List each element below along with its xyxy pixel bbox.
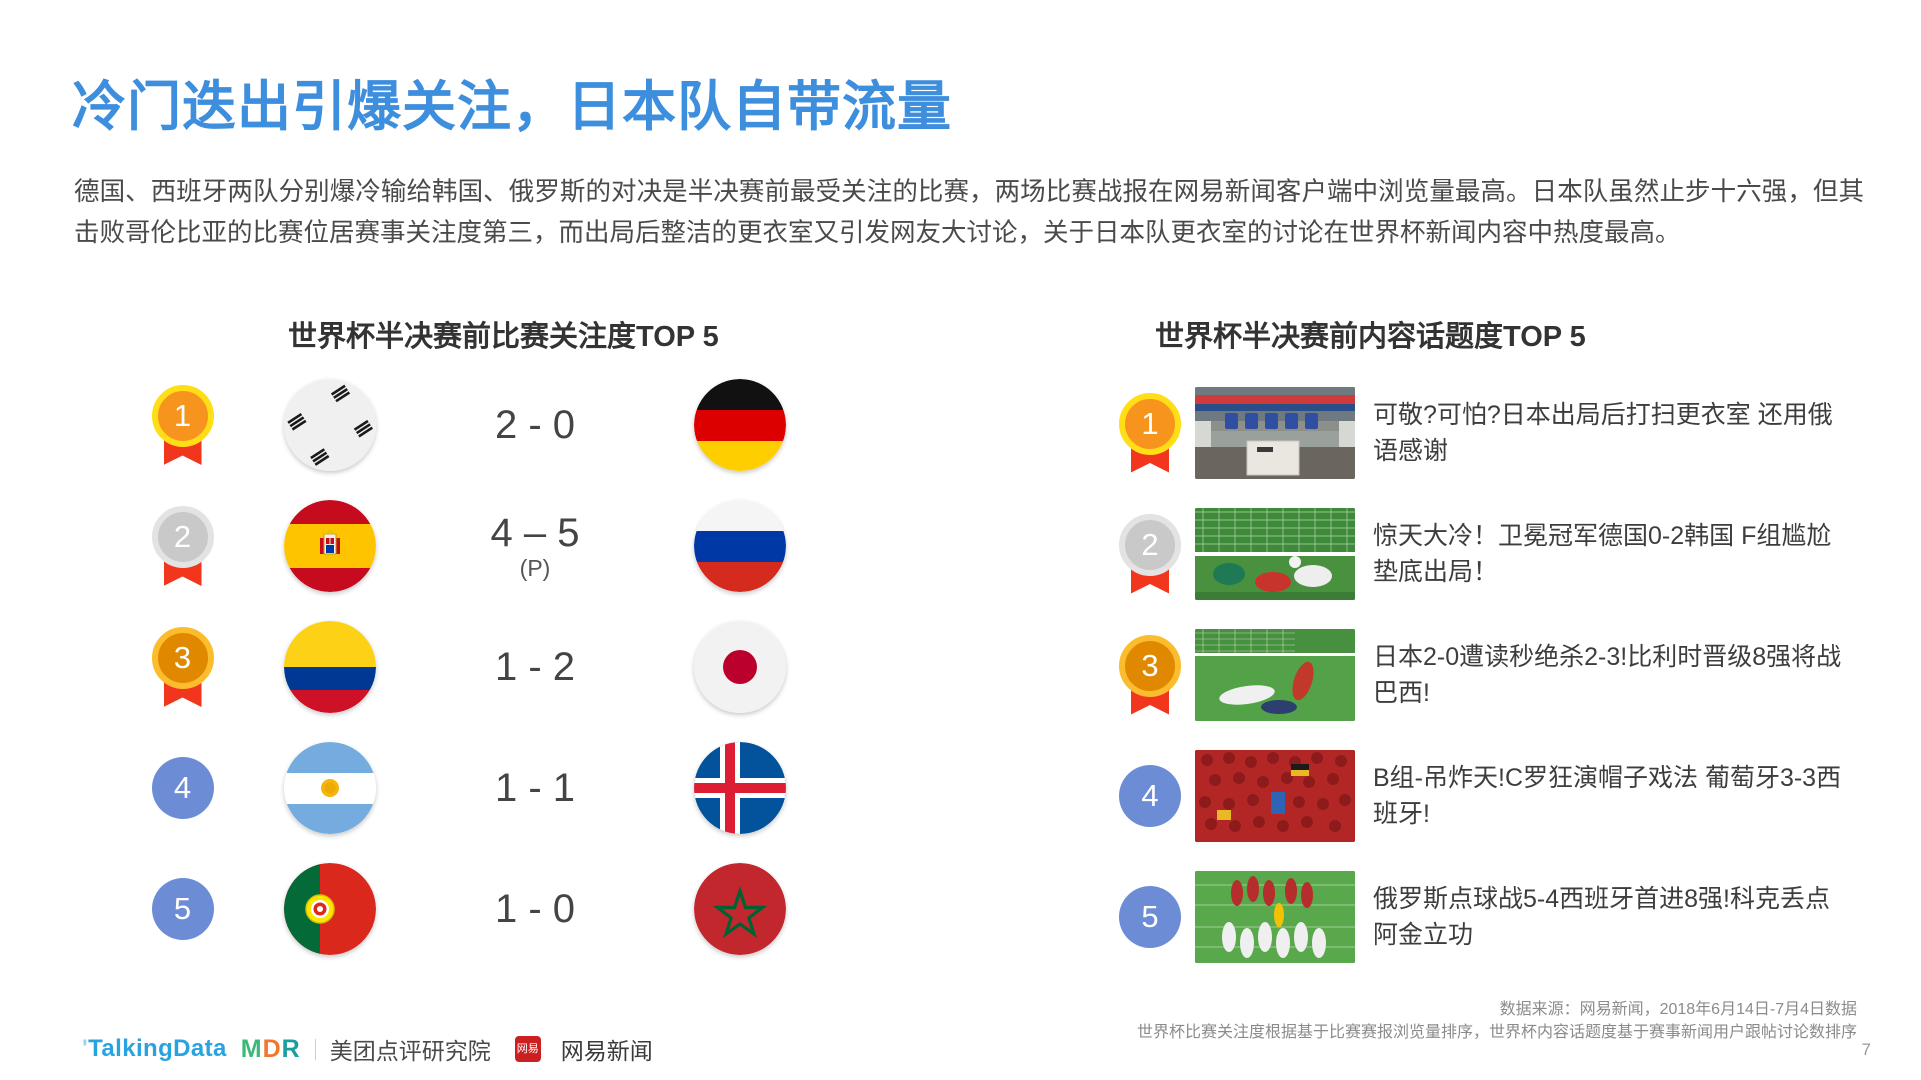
medal-bronze-icon: 3	[1119, 635, 1181, 715]
score-value: 1 - 1	[495, 766, 575, 810]
flag-portugal-icon	[284, 863, 376, 955]
away-flag-cell	[655, 742, 825, 834]
flag-spain-icon	[284, 500, 376, 592]
logo-divider	[315, 1039, 316, 1060]
article-title[interactable]: 俄罗斯点球战5-4西班牙首进8强!科克丢点阿金立功	[1373, 881, 1843, 953]
right-section-heading: 世界杯半决赛前内容话题度TOP 5	[1155, 313, 1586, 355]
intro-paragraph: 德国、西班牙两队分别爆冷输给韩国、俄罗斯的对决是半决赛前最受关注的比赛，两场比赛…	[74, 172, 1864, 254]
away-flag-cell	[655, 379, 825, 471]
mdr-logo: MDR	[241, 1035, 301, 1064]
score-value: 1 - 0	[495, 887, 575, 931]
method-note: 世界杯比赛关注度根据基于比赛赛报浏览量排序，世界杯内容话题度基于赛事新闻用户跟帖…	[1137, 1018, 1857, 1042]
rank-badge: 4	[152, 757, 214, 819]
rank-cell: 2	[120, 506, 245, 586]
rank-cell: 2	[1105, 514, 1195, 594]
table-row[interactable]: 5	[120, 859, 920, 959]
score-cell: 1 - 0	[415, 889, 655, 929]
list-item[interactable]: 3	[1105, 622, 1905, 727]
table-row[interactable]: 1	[120, 375, 920, 475]
flag-argentina-icon	[284, 742, 376, 834]
footer-logos: 'TalkingData MDR 美团点评研究院 网易 网易新闻	[82, 1032, 653, 1066]
medal-silver-icon: 2	[152, 506, 214, 586]
rank-cell: 3	[120, 627, 245, 707]
list-item[interactable]: 2	[1105, 501, 1905, 606]
score-cell: 1 - 2	[415, 647, 655, 687]
flag-iceland-icon	[694, 742, 786, 834]
rank-number: 3	[1119, 635, 1181, 697]
away-flag-cell	[655, 500, 825, 592]
rank-badge: 5	[1119, 886, 1181, 948]
match-ranking-list: 1	[120, 375, 920, 980]
list-item[interactable]: 4	[1105, 743, 1905, 848]
score-value: 4 – 5	[491, 511, 580, 555]
flag-south-korea-icon	[284, 379, 376, 471]
table-row[interactable]: 3 1 - 2	[120, 617, 920, 717]
rank-number: 2	[152, 506, 214, 568]
list-item[interactable]: 1	[1105, 380, 1905, 485]
thumbnail-team-huddle[interactable]	[1195, 871, 1355, 963]
score-value: 2 - 0	[495, 403, 575, 447]
score-cell: 4 – 5 (P)	[415, 513, 655, 580]
article-title[interactable]: B组-吊炸天!C罗狂演帽子戏法 葡萄牙3-3西班牙!	[1373, 760, 1843, 832]
away-flag-cell	[655, 863, 825, 955]
home-flag-cell	[245, 621, 415, 713]
thumbnail-locker-room[interactable]	[1195, 387, 1355, 479]
home-flag-cell	[245, 500, 415, 592]
home-flag-cell	[245, 863, 415, 955]
table-row[interactable]: 4 1 - 1	[120, 738, 920, 838]
score-cell: 1 - 1	[415, 768, 655, 808]
rank-cell: 1	[120, 385, 245, 465]
rank-cell: 3	[1105, 635, 1195, 715]
score-cell: 2 - 0	[415, 405, 655, 445]
thumbnail-crowd-fans[interactable]	[1195, 750, 1355, 842]
rank-number: 1	[152, 385, 214, 447]
rank-number: 2	[1119, 514, 1181, 576]
rank-cell: 4	[120, 757, 245, 819]
article-title[interactable]: 日本2-0遭读秒绝杀2-3!比利时晋级8强将战巴西!	[1373, 639, 1843, 711]
netease-badge-icon: 网易	[515, 1036, 541, 1062]
thumbnail-goal-celebration[interactable]	[1195, 508, 1355, 600]
score-note: (P)	[415, 557, 655, 580]
flag-germany-icon	[694, 379, 786, 471]
flag-japan-icon	[694, 621, 786, 713]
meituan-research-logo: 美团点评研究院	[330, 1032, 491, 1066]
page-title: 冷门迭出引爆关注，日本队自带流量	[72, 62, 952, 141]
page-number: 7	[1862, 1040, 1871, 1060]
flag-russia-icon	[694, 500, 786, 592]
rank-cell: 5	[120, 878, 245, 940]
medal-gold-icon: 1	[1119, 393, 1181, 473]
home-flag-cell	[245, 742, 415, 834]
rank-cell: 4	[1105, 765, 1195, 827]
rank-number: 3	[152, 627, 214, 689]
rank-badge: 5	[152, 878, 214, 940]
talkingdata-logo: 'TalkingData	[82, 1035, 227, 1063]
flag-colombia-icon	[284, 621, 376, 713]
medal-gold-icon: 1	[152, 385, 214, 465]
table-row[interactable]: 2	[120, 496, 920, 596]
left-section-heading: 世界杯半决赛前比赛关注度TOP 5	[288, 313, 719, 355]
medal-bronze-icon: 3	[152, 627, 214, 707]
thumbnail-players-on-pitch[interactable]	[1195, 629, 1355, 721]
score-value: 1 - 2	[495, 645, 575, 689]
article-ranking-list: 1	[1105, 380, 1905, 985]
slide-canvas: 冷门迭出引爆关注，日本队自带流量 德国、西班牙两队分别爆冷输给韩国、俄罗斯的对决…	[0, 0, 1921, 1080]
list-item[interactable]: 5	[1105, 864, 1905, 969]
home-flag-cell	[245, 379, 415, 471]
rank-badge: 4	[1119, 765, 1181, 827]
flag-morocco-icon	[694, 863, 786, 955]
netease-news-logo: 网易新闻	[561, 1032, 653, 1066]
article-title[interactable]: 惊天大冷！卫冕冠军德国0-2韩国 F组尴尬垫底出局！	[1373, 518, 1843, 590]
rank-cell: 1	[1105, 393, 1195, 473]
source-note: 数据来源：网易新闻，2018年6月14日-7月4日数据	[1500, 995, 1857, 1019]
article-title[interactable]: 可敬?可怕?日本出局后打扫更衣室 还用俄语感谢	[1373, 397, 1843, 469]
rank-number: 1	[1119, 393, 1181, 455]
rank-cell: 5	[1105, 886, 1195, 948]
medal-silver-icon: 2	[1119, 514, 1181, 594]
away-flag-cell	[655, 621, 825, 713]
